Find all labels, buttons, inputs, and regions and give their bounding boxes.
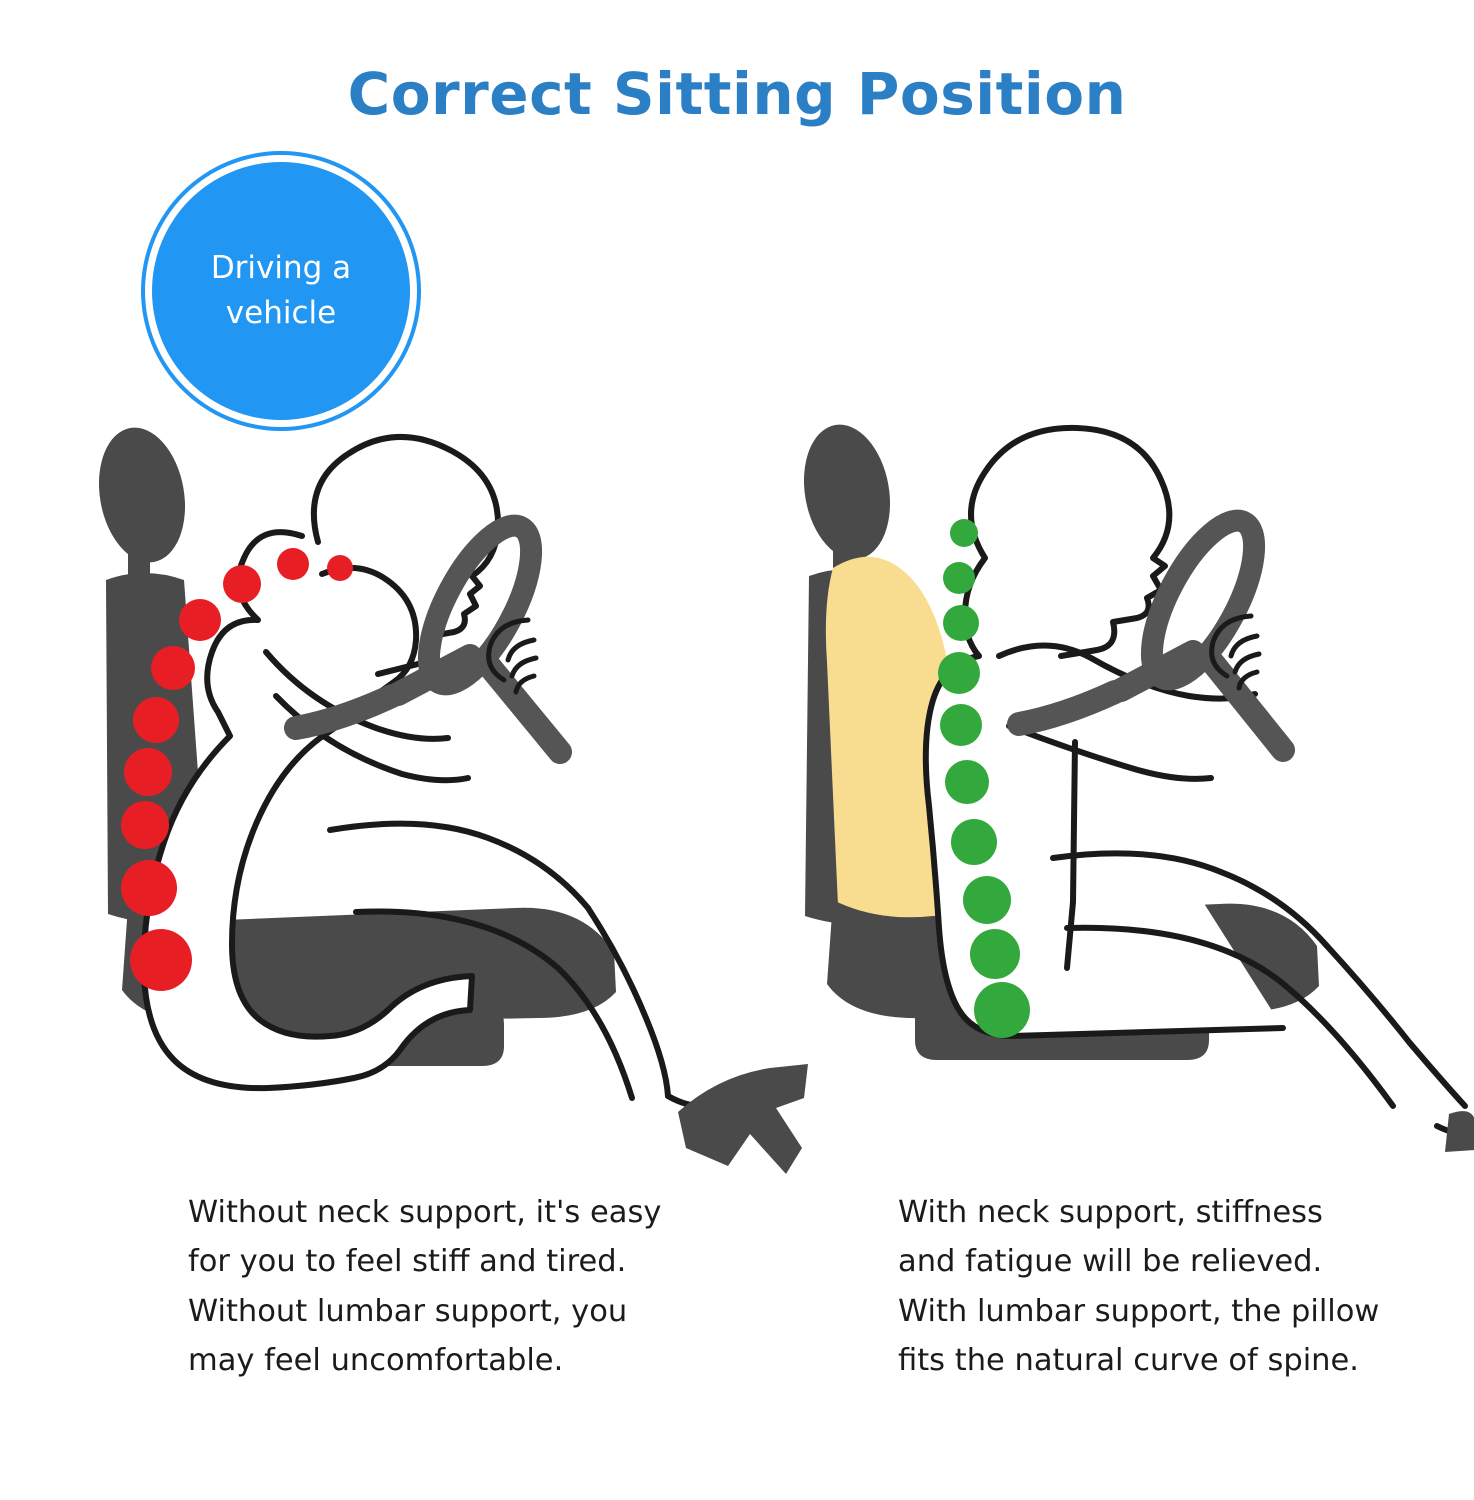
spine-dot <box>943 562 975 594</box>
spine-dot <box>223 565 261 603</box>
accelerator-pedal <box>1445 1111 1474 1152</box>
spine-dot <box>151 646 195 690</box>
spine-dot <box>121 860 177 916</box>
spine-dot <box>121 801 169 849</box>
spine-dot <box>327 555 353 581</box>
leg-thigh-outline <box>330 824 588 908</box>
driving-a-vehicle-badge: Driving a vehicle <box>152 162 410 420</box>
page-title: Correct Sitting Position <box>0 60 1474 128</box>
spine-dot <box>277 548 309 580</box>
spine-dot <box>974 982 1030 1038</box>
driver-slouched-figure-icon <box>0 400 737 1190</box>
spine-dot <box>940 704 982 746</box>
spine-dot <box>945 760 989 804</box>
caption-incorrect-posture: Without neck support, it's easy for you … <box>188 1188 708 1386</box>
badge-label: Driving a vehicle <box>181 246 381 336</box>
spine-dot <box>130 929 192 991</box>
spine-dot <box>943 605 979 641</box>
spine-dot <box>133 697 179 743</box>
spine-dot <box>963 876 1011 924</box>
spine-dot <box>124 748 172 796</box>
spine-dot <box>179 599 221 641</box>
spine-dot <box>938 652 980 694</box>
figure-correct-posture <box>737 400 1474 1190</box>
spine-dot <box>970 929 1020 979</box>
spine-dot <box>950 519 978 547</box>
seat-headrest <box>794 418 900 567</box>
driver-upright-figure-icon <box>737 400 1474 1190</box>
caption-correct-posture: With neck support, stiffness and fatigue… <box>898 1188 1428 1386</box>
spine-dot <box>951 819 997 865</box>
figure-incorrect-posture <box>0 400 737 1190</box>
headrest-post <box>128 550 150 576</box>
seat-headrest <box>89 421 195 570</box>
leg-shin-outline <box>1327 946 1465 1106</box>
